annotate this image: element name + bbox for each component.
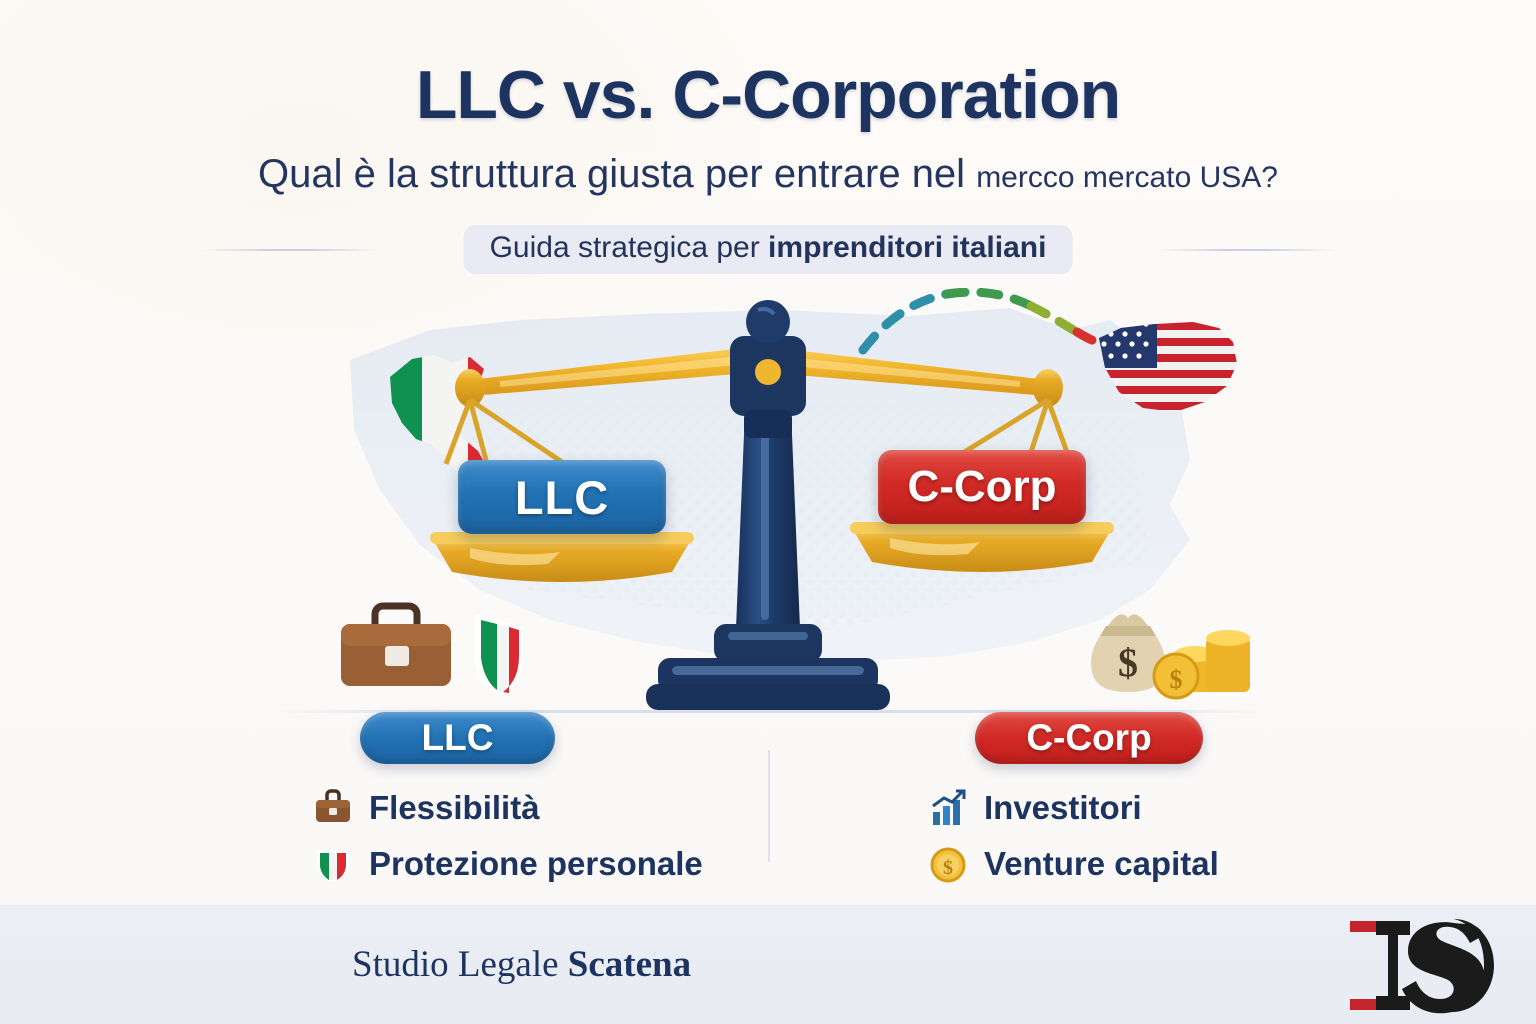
badge-ccorp: C-Corp [975,712,1203,764]
italy-shield-icon [313,844,353,884]
money-bag-and-coins-icons: $ $ [1070,600,1270,700]
divider-right [1156,249,1336,251]
subtitle-typo: mercco [976,161,1074,194]
scale-plate-ccorp: C-Corp [878,450,1086,524]
badge-llc: LLC [360,712,555,764]
feature-ccorp-venture: $ Venture capital [928,844,1219,884]
infographic-canvas: LLC vs. C-Corporation Qual è la struttur… [0,0,1536,1024]
feature-llc-flessibilita: Flessibilità [313,788,540,828]
page-title: LLC vs. C-Corporation [0,56,1536,134]
firm-name-bold: Scatena [568,944,691,985]
scale-plate-llc: LLC [458,460,666,534]
feature-label: Venture capital [984,845,1219,883]
feature-label: Flessibilità [369,789,540,827]
tagline-pill: Guida strategica per imprenditori italia… [464,225,1073,274]
briefcase-icon [313,788,353,828]
chart-up-icon [928,788,968,828]
footer-band: Studio Legale Scatena [0,905,1536,1024]
column-divider [768,750,770,862]
page-subtitle: Qual è la struttura giusta per entrare n… [0,152,1536,197]
studio-legale-scatena-logo [1336,913,1508,1018]
svg-text:$: $ [943,857,953,879]
svg-text:$: $ [1118,640,1138,685]
svg-text:$: $ [1170,665,1183,694]
tagline-bold: imprenditori italiani [768,231,1046,264]
subtitle-main: Qual è la struttura giusta per entrare n… [258,152,976,196]
feature-llc-protezione: Protezione personale [313,844,703,884]
tagline-row: Guida strategica per imprenditori italia… [0,225,1536,275]
footer-firm-name: Studio Legale Scatena [352,943,691,986]
feature-label: Investitori [984,789,1142,827]
firm-name-plain: Studio Legale [352,944,568,985]
subtitle-tail: mercato USA? [1075,161,1278,194]
gold-coin-icon: $ [928,844,968,884]
tagline-plain: Guida strategica per [490,231,768,264]
feature-ccorp-investitori: Investitori [928,788,1142,828]
divider-left [200,249,380,251]
briefcase-and-shield-icons [327,600,527,700]
feature-label: Protezione personale [369,845,703,883]
